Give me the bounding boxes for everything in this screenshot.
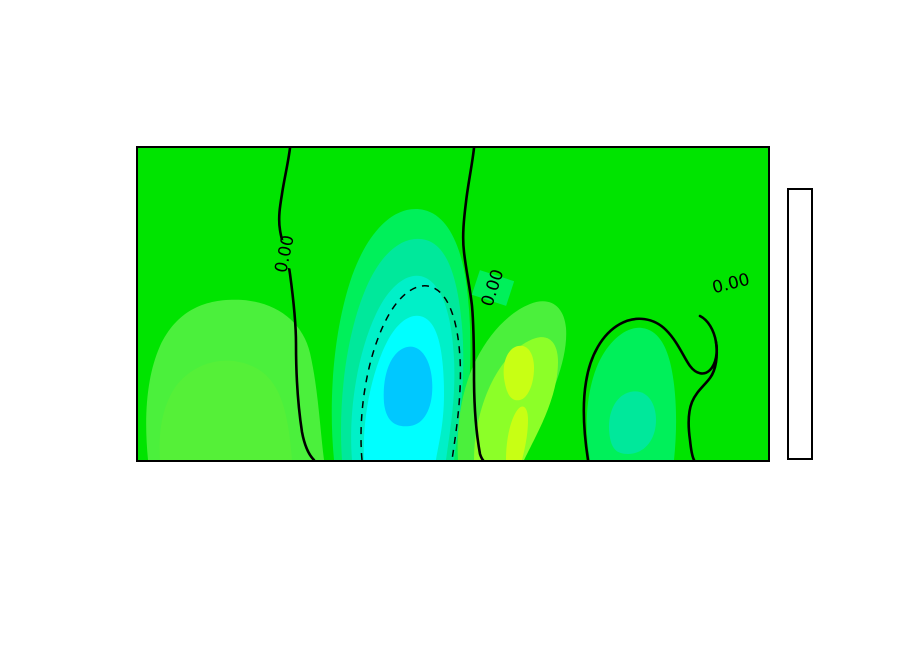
contour-plot-area: 0.00 0.00 0.00	[136, 146, 770, 462]
contour-field: 0.00 0.00 0.00	[138, 148, 768, 460]
colorbar	[787, 188, 813, 460]
